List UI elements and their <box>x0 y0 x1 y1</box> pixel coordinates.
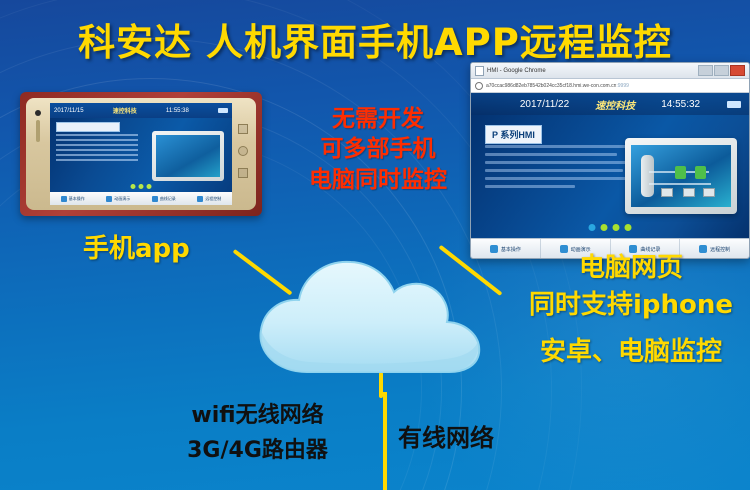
wifi-line-2: 3G/4G路由器 <box>150 433 365 468</box>
phone-app-header: 2017/11/15 速控科技 11:55:38 <box>50 103 232 118</box>
hmi-device-image <box>625 138 737 214</box>
hmi-page-header: 2017/11/22 速控科技 14:55:32 <box>471 93 749 115</box>
computer-caption-line-3: 安卓、电脑监控 <box>512 334 750 371</box>
phone-toolbar-btn-0[interactable]: 基本操作 <box>50 196 96 202</box>
phone-carousel-dots[interactable] <box>131 184 152 189</box>
hmi-web-page: 2017/11/22 速控科技 14:55:32 P 系列HMI <box>471 93 749 259</box>
browser-title-bar[interactable]: HMI - Google Chrome <box>471 63 749 79</box>
browser-window-title: HMI - Google Chrome <box>487 68 546 74</box>
phone-home-key <box>238 146 248 156</box>
computer-caption-line-2: 同时支持iphone <box>512 287 750 324</box>
remote-icon <box>197 196 203 202</box>
url-text: a70ccac986d82eb78542b024cc35cf18.hmi.we-… <box>486 83 616 89</box>
window-controls[interactable] <box>698 65 745 76</box>
browser-window: HMI - Google Chrome a70ccac986d82eb78542… <box>470 62 750 259</box>
feature-line-3: 电脑同时监控 <box>288 165 468 195</box>
phone-panel-text <box>56 134 138 164</box>
computer-caption-line-1: 电脑网页 <box>512 250 750 287</box>
hmi-carousel-dots[interactable] <box>589 224 632 231</box>
wifi-network-caption: wifi无线网络 3G/4G路由器 <box>150 398 365 468</box>
hmi-date: 2017/11/22 <box>520 99 569 110</box>
phone-network-icon <box>218 108 228 113</box>
phone-caption: 手机app <box>83 228 190 265</box>
tank-graphic <box>641 155 654 197</box>
phone-toolbar[interactable]: 基本操作 动画演示 曲线记录 远程控制 <box>50 192 232 205</box>
phone-screen: 2017/11/15 速控科技 11:55:38 基本操作 动画演示 曲线记录 <box>50 103 232 205</box>
phone-toolbar-btn-3[interactable]: 远程控制 <box>187 196 233 202</box>
phone-camera-icon <box>35 110 41 116</box>
page-favicon-icon <box>475 66 484 76</box>
phone-device: 2017/11/15 速控科技 11:55:38 基本操作 动画演示 曲线记录 <box>20 92 262 216</box>
hmi-panel-title: P 系列HMI <box>485 125 542 144</box>
feature-line-2: 可多部手机 <box>288 134 468 164</box>
phone-toolbar-btn-1[interactable]: 动画演示 <box>96 196 142 202</box>
wifi-line-1: wifi无线网络 <box>150 398 365 433</box>
maximize-button[interactable] <box>714 65 729 76</box>
phone-brand: 速控科技 <box>113 106 137 115</box>
features-text: 无需开发 可多部手机 电脑同时监控 <box>288 104 468 195</box>
bottom-divider <box>383 392 387 490</box>
hmi-brand: 速控科技 <box>595 97 635 112</box>
phone-menu-key <box>238 168 248 178</box>
phone-toolbar-btn-2[interactable]: 曲线记录 <box>141 196 187 202</box>
phone-hmi-device-image <box>152 131 224 181</box>
phone-back-key <box>238 124 248 134</box>
hmi-network-icon <box>727 101 741 108</box>
phone-time: 11:55:38 <box>166 108 189 114</box>
browser-address-bar[interactable]: a70ccac986d82eb78542b024cc35cf18.hmi.we-… <box>471 79 749 93</box>
info-icon <box>475 82 483 90</box>
minimize-button[interactable] <box>698 65 713 76</box>
cloud-icon <box>247 252 487 380</box>
pump-graphic <box>695 166 706 179</box>
close-button[interactable] <box>730 65 745 76</box>
phone-date: 2017/11/15 <box>54 108 84 114</box>
hmi-time: 14:55:32 <box>661 99 700 110</box>
pump-graphic <box>675 166 686 179</box>
feature-line-1: 无需开发 <box>288 104 468 134</box>
hand-icon <box>61 196 67 202</box>
phone-speaker-icon <box>36 120 40 142</box>
hmi-panel-paragraph <box>485 145 635 193</box>
play-icon <box>106 196 112 202</box>
wired-network-caption: 有线网络 <box>398 418 494 453</box>
computer-caption: 电脑网页 同时支持iphone 安卓、电脑监控 <box>512 250 750 371</box>
phone-body: 2017/11/15 速控科技 11:55:38 基本操作 动画演示 曲线记录 <box>26 98 256 210</box>
chart-icon <box>152 196 158 202</box>
hand-icon <box>490 245 498 253</box>
poster-canvas: 科安达 人机界面手机APP远程监控 2017/11/15 速控科技 11:55:… <box>0 0 750 490</box>
wired-label: 有线网络 <box>398 418 494 453</box>
phone-panel-title <box>56 122 120 132</box>
page-title: 科安达 人机界面手机APP远程监控 <box>0 12 750 66</box>
url-port: :9999 <box>616 83 629 89</box>
